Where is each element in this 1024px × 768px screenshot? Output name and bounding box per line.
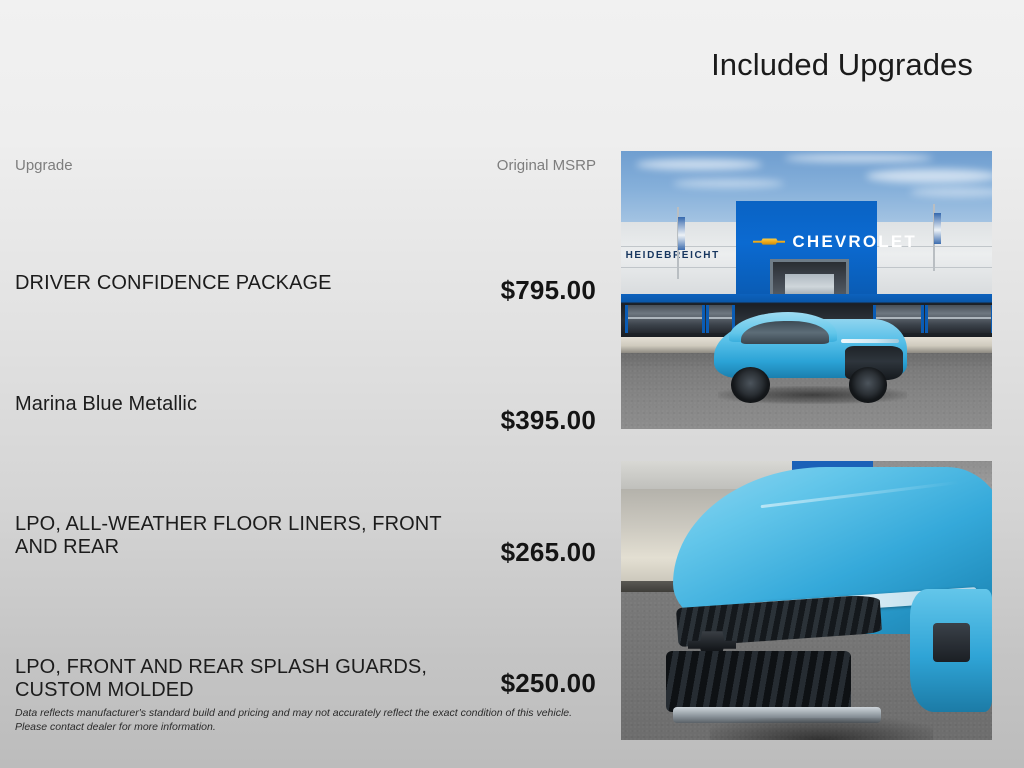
vehicle-headlight-bar bbox=[841, 339, 899, 343]
upgrade-name: LPO, FRONT AND REAR SPLASH GUARDS, CUSTO… bbox=[15, 656, 445, 702]
cloud bbox=[910, 187, 992, 197]
upgrade-price: $395.00 bbox=[501, 405, 596, 436]
flagpole bbox=[677, 207, 679, 279]
window-pane bbox=[925, 305, 992, 333]
disclaimer-footnote: Data reflects manufacturer's standard bu… bbox=[15, 706, 605, 734]
brand-sign-text: CHEVROLET bbox=[792, 232, 917, 252]
dealer-name-sign: HEIDEBREICHT bbox=[626, 250, 720, 261]
flag-banner bbox=[678, 217, 685, 250]
blue-facade: CHEVROLET bbox=[736, 201, 877, 294]
upgrade-price: $265.00 bbox=[501, 537, 596, 568]
page-title: Included Upgrades bbox=[0, 48, 973, 82]
window-pane bbox=[625, 305, 705, 333]
table-header-row: Upgrade Original MSRP bbox=[0, 157, 600, 197]
vehicle-front-three-quarter bbox=[714, 312, 907, 401]
cloud bbox=[784, 154, 932, 163]
cloud bbox=[673, 179, 784, 188]
upgrades-table: Upgrade Original MSRP DRIVER CONFIDENCE … bbox=[0, 157, 600, 197]
fog-light-housing bbox=[933, 623, 970, 662]
upgrade-price: $795.00 bbox=[501, 275, 596, 306]
entrance bbox=[770, 259, 849, 297]
column-header-original-msrp: Original MSRP bbox=[497, 157, 596, 174]
cloud bbox=[866, 169, 992, 183]
upgrade-name: LPO, ALL-WEATHER FLOOR LINERS, FRONT AND… bbox=[15, 513, 445, 559]
vehicle-shadow bbox=[710, 718, 933, 740]
included-upgrades-slide: Included Upgrades Upgrade Original MSRP … bbox=[0, 0, 1024, 768]
vehicle-closeup-photo bbox=[621, 461, 992, 740]
upgrade-name: Marina Blue Metallic bbox=[15, 393, 197, 416]
cloud bbox=[636, 159, 762, 171]
dealership-photo: HEIDEBREICHT CHEVROLET bbox=[621, 151, 992, 429]
disclaimer-line-2: Please contact dealer for more informati… bbox=[15, 720, 605, 734]
disclaimer-line-1: Data reflects manufacturer's standard bu… bbox=[15, 706, 605, 720]
upgrade-price: $250.00 bbox=[501, 668, 596, 699]
upgrade-name: DRIVER CONFIDENCE PACKAGE bbox=[15, 272, 332, 295]
vehicle-wheel bbox=[731, 367, 770, 403]
lower-grille bbox=[666, 651, 852, 712]
hood-crease bbox=[760, 481, 959, 509]
flag-banner bbox=[934, 213, 941, 244]
chevrolet-bowtie-icon bbox=[753, 235, 785, 249]
vehicle-wheel bbox=[849, 367, 888, 403]
flagpole bbox=[933, 204, 935, 271]
column-header-upgrade: Upgrade bbox=[15, 157, 73, 174]
